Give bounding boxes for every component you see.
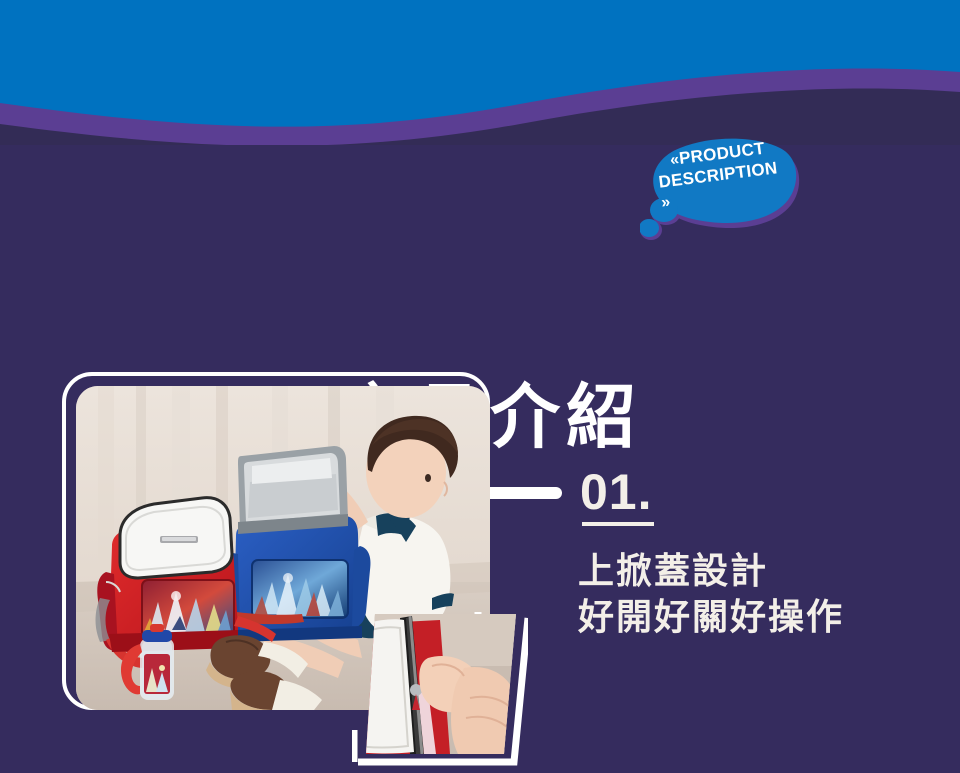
feature-caption: 上掀蓋設計 好開好關好操作 xyxy=(578,548,908,640)
bubble-dot-large xyxy=(650,198,678,222)
title-block: 產品介紹 xyxy=(0,185,960,330)
child-eye xyxy=(425,474,431,482)
product-description-page: 產品介紹 «PRODUCT DESCRIPTION » xyxy=(0,0,960,768)
red-bag-logo xyxy=(160,536,198,543)
feature-number: 01. xyxy=(580,466,653,518)
feature-caption-line-2: 好開好關好操作 xyxy=(578,594,908,640)
product-description-bubble xyxy=(640,134,800,244)
feature-caption-line-1: 上掀蓋設計 xyxy=(578,548,908,594)
header-wave-banner xyxy=(0,0,960,145)
feature-number-underline xyxy=(582,522,654,526)
inset-product-photo xyxy=(366,614,516,754)
